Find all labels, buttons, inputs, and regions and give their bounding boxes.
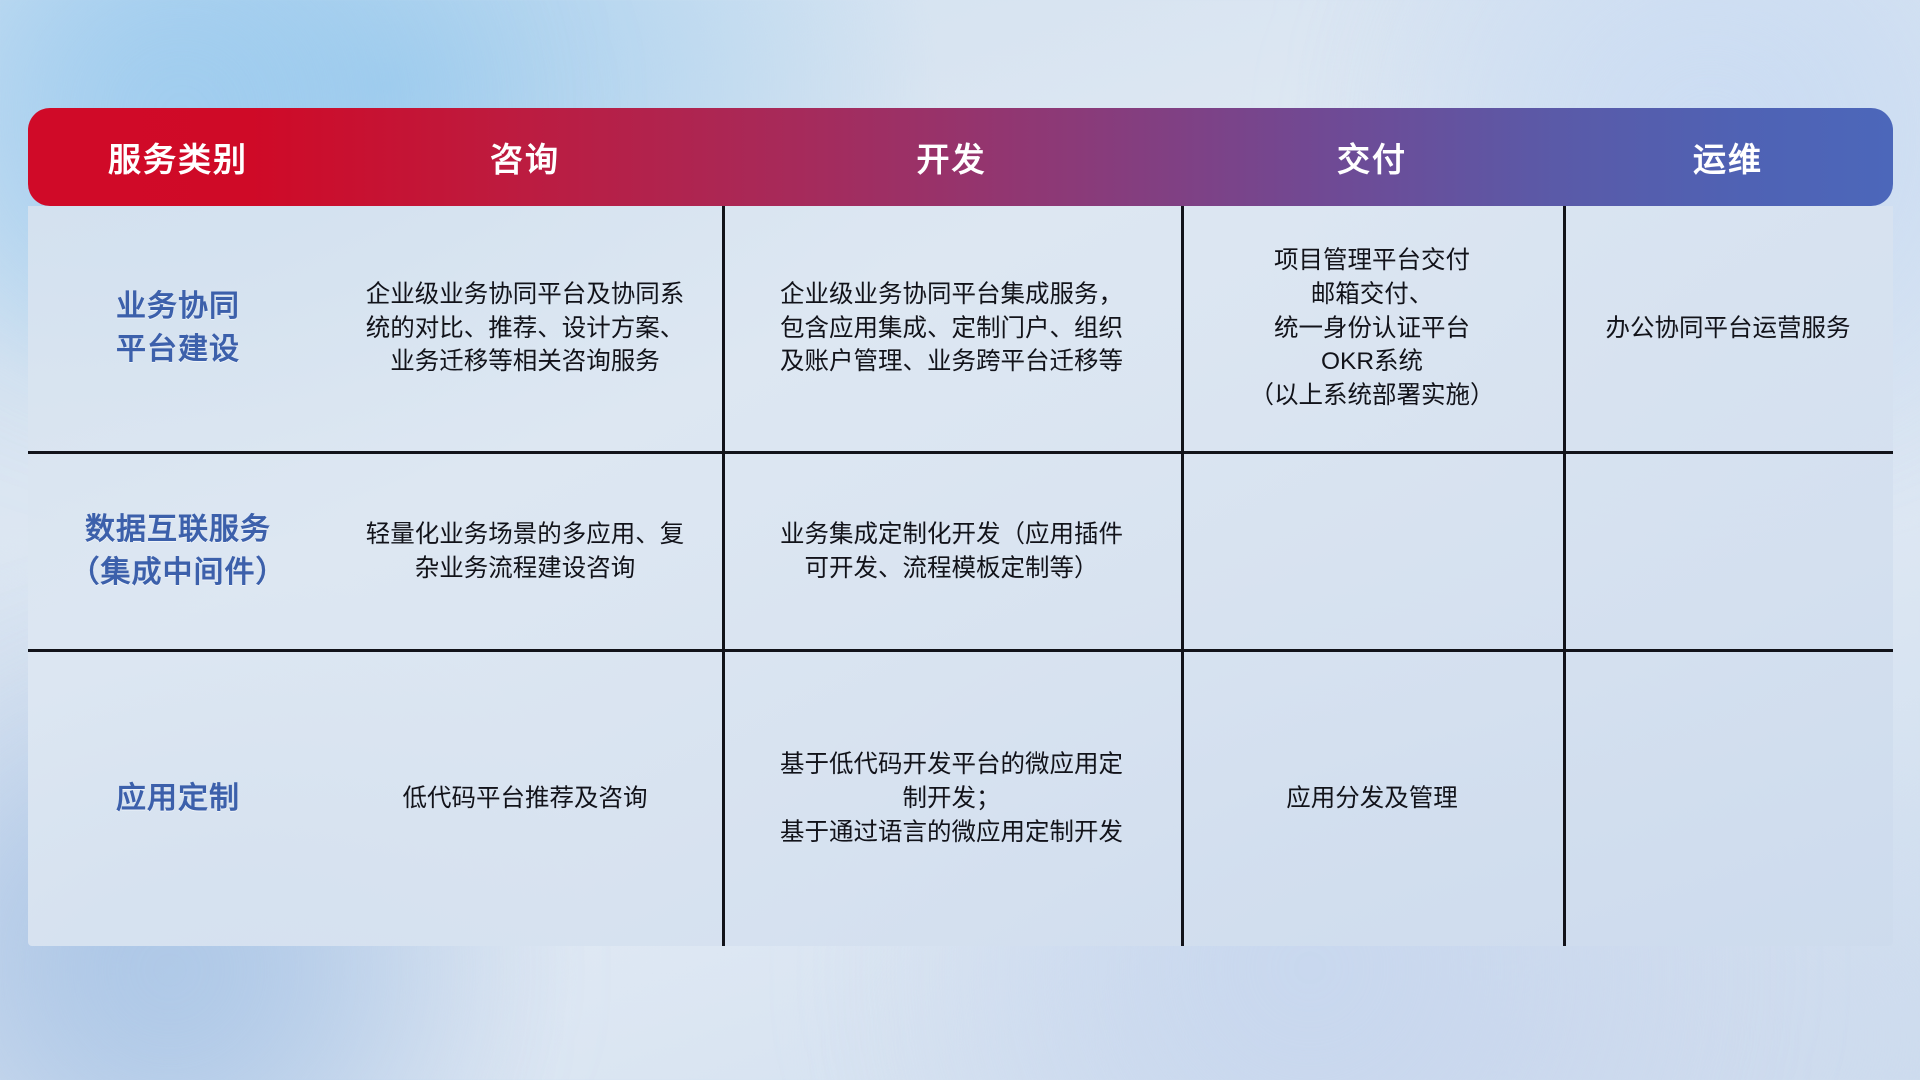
row-label-business-collaboration: 业务协同 平台建设 [28, 206, 328, 451]
column-header-delivery: 交付 [1181, 133, 1563, 181]
row-label-data-interconnect: 数据互联服务 （集成中间件） [28, 454, 328, 649]
table-row: 数据互联服务 （集成中间件） 轻量化业务场景的多应用、复 杂业务流程建设咨询 业… [28, 454, 1893, 652]
table-row: 应用定制 低代码平台推荐及咨询 基于低代码开发平台的微应用定 制开发； 基于通过… [28, 652, 1893, 946]
cell-r2-consulting: 低代码平台推荐及咨询 [328, 652, 722, 946]
cell-r0-operations: 办公协同平台运营服务 [1563, 206, 1893, 451]
table-row: 业务协同 平台建设 企业级业务协同平台及协同系 统的对比、推荐、设计方案、 业务… [28, 206, 1893, 454]
cell-r0-delivery: 项目管理平台交付 邮箱交付、 统一身份认证平台 OKR系统 （以上系统部署实施） [1181, 206, 1563, 451]
cell-r2-operations [1563, 652, 1893, 946]
service-matrix-table: 服务类别 咨询 开发 交付 运维 业务协同 平台建设 企业级业务协同平台及协同系… [28, 108, 1893, 946]
column-header-development: 开发 [722, 133, 1181, 181]
cell-r2-delivery: 应用分发及管理 [1181, 652, 1563, 946]
cell-r1-operations [1563, 454, 1893, 649]
row-label-application-customization: 应用定制 [28, 652, 328, 946]
column-header-operations: 运维 [1563, 133, 1893, 181]
cell-r1-consulting: 轻量化业务场景的多应用、复 杂业务流程建设咨询 [328, 454, 722, 649]
table-body: 业务协同 平台建设 企业级业务协同平台及协同系 统的对比、推荐、设计方案、 业务… [28, 206, 1893, 946]
cell-r2-development: 基于低代码开发平台的微应用定 制开发； 基于通过语言的微应用定制开发 [722, 652, 1181, 946]
cell-r0-development: 企业级业务协同平台集成服务， 包含应用集成、定制门户、组织 及账户管理、业务跨平… [722, 206, 1181, 451]
table-header-row: 服务类别 咨询 开发 交付 运维 [28, 108, 1893, 206]
cell-r0-consulting: 企业级业务协同平台及协同系 统的对比、推荐、设计方案、 业务迁移等相关咨询服务 [328, 206, 722, 451]
cell-r1-delivery [1181, 454, 1563, 649]
column-header-consulting: 咨询 [328, 133, 722, 181]
column-header-category: 服务类别 [28, 133, 328, 181]
cell-r1-development: 业务集成定制化开发（应用插件 可开发、流程模板定制等） [722, 454, 1181, 649]
